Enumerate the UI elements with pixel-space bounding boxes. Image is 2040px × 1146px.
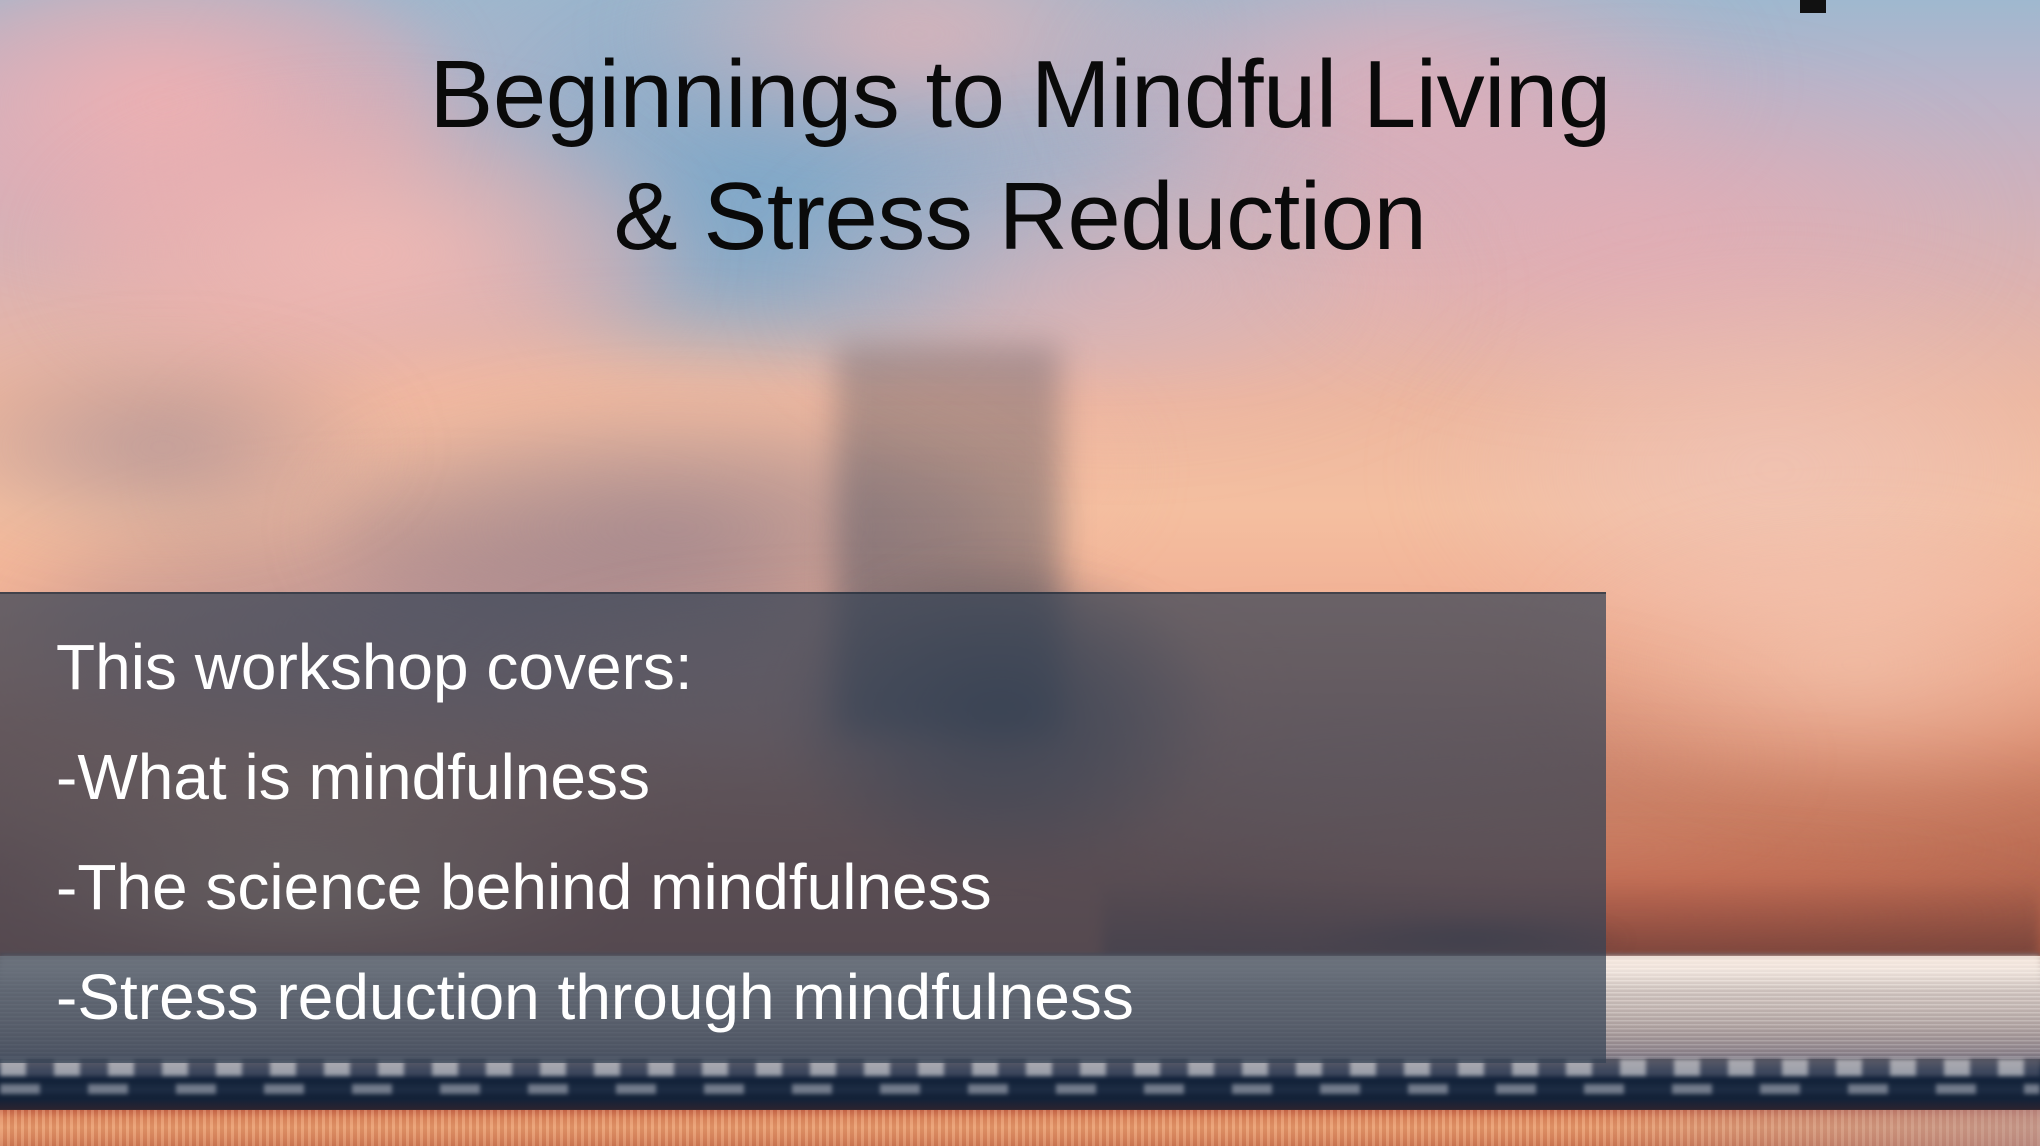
wet-sand-beach — [0, 1110, 2040, 1146]
workshop-coverage-list: This workshop covers: -What is mindfulne… — [56, 612, 1576, 1052]
overlay-list-item: -Stress reduction through mindfulness — [56, 942, 1576, 1052]
overlay-list-item: -The science behind mindfulness — [56, 832, 1576, 942]
presentation-slide: Beginnings to Mindful Living & Stress Re… — [0, 0, 2040, 1146]
overlay-heading: This workshop covers: — [56, 612, 1576, 722]
overlay-top-border — [0, 592, 1606, 594]
sand-shadow-right — [1591, 1110, 2040, 1146]
content-overlay-box: This workshop covers: -What is mindfulne… — [0, 592, 1606, 1063]
overlay-list-item: -What is mindfulness — [56, 722, 1576, 832]
slide-title: Beginnings to Mindful Living & Stress Re… — [0, 34, 2040, 278]
wave-foam-lower — [0, 1084, 2040, 1094]
clipped-text-fragment — [1800, 0, 1826, 13]
